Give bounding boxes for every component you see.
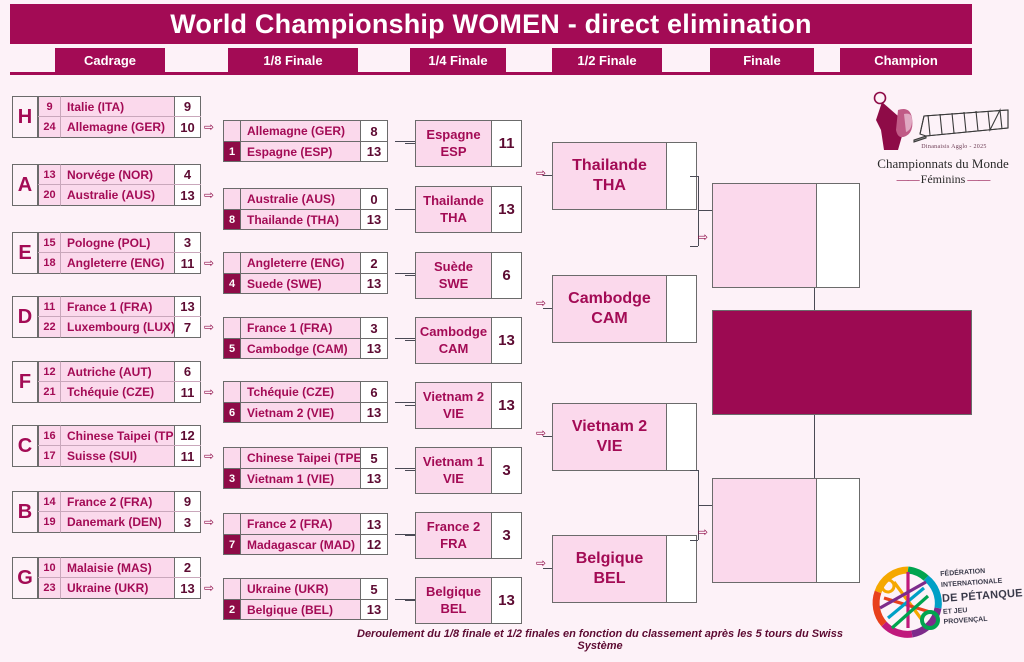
advance-arrow-icon: ⇨ (204, 189, 214, 201)
team-name: Vietnam 1 (VIE) (241, 468, 361, 489)
seed-number: 20 (38, 185, 61, 206)
team-name: Vietnam 2 (572, 417, 647, 437)
qualified-seed-badge: 5 (223, 338, 241, 359)
team-code: SWE (439, 276, 469, 292)
event-logo-caption-line1: Championnats du Monde (868, 156, 1018, 172)
semi-final-box[interactable]: CambodgeCAM (552, 275, 697, 343)
seed-number: 19 (38, 512, 61, 533)
team-name: Vietnam 2 (423, 389, 484, 405)
team-score: 13 (174, 578, 201, 599)
team-score: 13 (491, 187, 521, 232)
caption-dash-left: —— (897, 172, 921, 186)
team-name: Australie (AUS) (61, 185, 174, 206)
connector-line (405, 535, 415, 536)
team-code: THA (440, 210, 467, 226)
final-box-name (713, 184, 816, 287)
cadrage-group-letter: E (12, 232, 38, 274)
quarter-final-box-name: EspagneESP (416, 121, 491, 166)
cadrage-team-row[interactable]: 18Angleterre (ENG)11 (38, 253, 201, 274)
cadrage-team-row[interactable]: 16Chinese Taipei (TPE)12 (38, 425, 201, 446)
connector-line (405, 209, 415, 210)
qualified-seed-badge: 2 (223, 599, 241, 620)
eighth-final-team-row[interactable]: 5Cambodge (CAM)13 (223, 338, 388, 359)
connector-line (395, 141, 415, 142)
team-score: 13 (361, 402, 388, 423)
cadrage-team-row[interactable]: 13Norvége (NOR)4 (38, 164, 201, 185)
cadrage-match[interactable]: C16Chinese Taipei (TPE)1217Suisse (SUI)1… (12, 425, 201, 467)
team-name: Madagascar (MAD) (241, 534, 361, 555)
team-name: Ukraine (UKR) (61, 578, 174, 599)
team-score: 6 (491, 253, 521, 298)
seed-number: 21 (38, 382, 61, 403)
connector-line (814, 288, 815, 310)
team-score: 12 (361, 534, 388, 555)
team-score: 13 (361, 599, 388, 620)
connector-line (405, 405, 415, 406)
team-score: 5 (361, 447, 388, 468)
final-box[interactable] (712, 478, 860, 583)
cadrage-match[interactable]: F12Autriche (AUT)621Tchéquie (CZE)11 (12, 361, 201, 403)
semi-final-box-name: BelgiqueBEL (553, 536, 666, 602)
team-score: 13 (174, 185, 201, 206)
seed-badge-empty (223, 252, 241, 273)
page-title-text: World Championship WOMEN - direct elimin… (170, 9, 812, 40)
cadrage-team-row[interactable]: 15Pologne (POL)3 (38, 232, 201, 253)
advance-arrow-icon: ⇨ (536, 427, 546, 439)
cadrage-team-row[interactable]: 17Suisse (SUI)11 (38, 446, 201, 467)
round-tab-champion[interactable]: Champion (840, 48, 972, 72)
team-name: Suède (434, 259, 473, 275)
eighth-final-match[interactable]: France 2 (FRA)137Madagascar (MAD)12 (223, 513, 388, 555)
event-logo-caption-line2: —— Féminins —— (868, 172, 1018, 187)
eighth-final-team-row[interactable]: 8Thailande (THA)13 (223, 209, 388, 230)
eighth-final-team-row[interactable]: Angleterre (ENG)2 (223, 252, 388, 273)
team-score: 11 (174, 253, 201, 274)
team-name: France 1 (FRA) (241, 317, 361, 338)
round-tab-cadrage[interactable]: Cadrage (55, 48, 165, 72)
connector-line (395, 468, 415, 469)
quarter-final-box[interactable]: EspagneESP11 (415, 120, 522, 167)
quarter-final-box[interactable]: BelgiqueBEL13 (415, 577, 522, 624)
team-name: France 2 (FRA) (241, 513, 361, 534)
semi-final-box[interactable]: BelgiqueBEL (552, 535, 697, 603)
eighth-final-match[interactable]: France 1 (FRA)35Cambodge (CAM)13 (223, 317, 388, 359)
team-code: FRA (440, 536, 467, 552)
connector-line (543, 308, 552, 309)
team-score: 11 (491, 121, 521, 166)
team-score: 8 (361, 120, 388, 141)
team-name: Italie (ITA) (61, 96, 174, 116)
cadrage-group-letter: G (12, 557, 38, 599)
connector-line (405, 600, 415, 601)
semi-final-box-name: ThailandeTHA (553, 143, 666, 209)
cadrage-match[interactable]: G10Malaisie (MAS)223Ukraine (UKR)13 (12, 557, 201, 599)
team-score: 13 (361, 513, 388, 534)
team-score: 9 (174, 96, 201, 116)
team-score: 0 (361, 188, 388, 209)
team-score: 3 (361, 317, 388, 338)
connector-line (690, 246, 698, 247)
team-name: Tchéquie (CZE) (61, 382, 174, 403)
team-score: 2 (361, 252, 388, 273)
advance-arrow-icon: ⇨ (204, 121, 214, 133)
caption-dash-right: —— (965, 172, 989, 186)
team-score: 13 (361, 141, 388, 162)
quarter-final-box-name: Vietnam 1VIE (416, 448, 491, 493)
seed-number: 13 (38, 164, 61, 184)
team-score: 11 (174, 382, 201, 403)
eighth-final-team-row[interactable]: Allemagne (GER)8 (223, 120, 388, 141)
qualified-seed-badge: 3 (223, 468, 241, 489)
eighth-final-team-row[interactable]: 3Vietnam 1 (VIE)13 (223, 468, 388, 489)
team-code: CAM (439, 341, 469, 357)
header-divider (10, 72, 972, 75)
team-name: Espagne (ESP) (241, 141, 361, 162)
quarter-final-box-name: SuèdeSWE (416, 253, 491, 298)
team-name: Belgique (BEL) (241, 599, 361, 620)
champion-box[interactable] (712, 310, 972, 415)
team-name: Luxembourg (LUX) (61, 317, 174, 338)
cadrage-team-row[interactable]: 10Malaisie (MAS)2 (38, 557, 201, 578)
quarter-final-box[interactable]: Vietnam 1VIE3 (415, 447, 522, 494)
team-code: VIE (443, 471, 464, 487)
eighth-final-match[interactable]: Ukraine (UKR)52Belgique (BEL)13 (223, 578, 388, 620)
team-name: Cambodge (420, 324, 487, 340)
quarter-final-box[interactable]: CambodgeCAM13 (415, 317, 522, 364)
cadrage-team-row[interactable]: 22Luxembourg (LUX)7 (38, 317, 201, 338)
team-score: 10 (174, 117, 201, 138)
quarter-final-box[interactable]: France 2FRA3 (415, 512, 522, 559)
advance-arrow-icon: ⇨ (204, 321, 214, 333)
team-score: 2 (174, 557, 201, 577)
semi-final-box[interactable]: ThailandeTHA (552, 142, 697, 210)
team-name: Vietnam 2 (VIE) (241, 402, 361, 423)
round-tab-1-4-finale[interactable]: 1/4 Finale (410, 48, 506, 72)
team-code: BEL (594, 569, 626, 589)
seed-badge-empty (223, 578, 241, 599)
team-name: Angleterre (ENG) (241, 252, 361, 273)
team-name: Belgique (426, 584, 481, 600)
seed-badge-empty (223, 381, 241, 402)
cadrage-group-letter: B (12, 491, 38, 533)
team-name: Belgique (576, 549, 644, 569)
cadrage-group-letter: A (12, 164, 38, 206)
cadrage-match[interactable]: H9Italie (ITA)924Allemagne (GER)10 (12, 96, 201, 138)
round-tab-1-8-finale[interactable]: 1/8 Finale (228, 48, 358, 72)
connector-line (543, 436, 552, 437)
caption-text: Féminins (921, 172, 966, 186)
team-score: 13 (491, 318, 521, 363)
team-code: VIE (443, 406, 464, 422)
team-name: Norvége (NOR) (61, 164, 174, 184)
connector-line (698, 505, 712, 506)
qualified-seed-badge: 6 (223, 402, 241, 423)
connector-line (690, 176, 698, 177)
eighth-final-match[interactable]: Australie (AUS)08Thailande (THA)13 (223, 188, 388, 230)
eighth-final-team-row[interactable]: France 2 (FRA)13 (223, 513, 388, 534)
team-score: 3 (174, 232, 201, 252)
advance-arrow-icon: ⇨ (204, 450, 214, 462)
quarter-final-box-name: Vietnam 2VIE (416, 383, 491, 428)
advance-arrow-icon: ⇨ (536, 167, 546, 179)
team-name: Espagne (426, 127, 480, 143)
advance-arrow-icon: ⇨ (698, 231, 708, 243)
advance-arrow-icon: ⇨ (204, 257, 214, 269)
qualified-seed-badge: 4 (223, 273, 241, 294)
team-score: 12 (174, 425, 201, 445)
eighth-final-team-row[interactable]: 4Suede (SWE)13 (223, 273, 388, 294)
seed-badge-empty (223, 513, 241, 534)
advance-arrow-icon: ⇨ (204, 582, 214, 594)
team-name: Danemark (DEN) (61, 512, 174, 533)
team-score (666, 404, 696, 470)
team-score: 13 (361, 273, 388, 294)
team-name: Cambodge (CAM) (241, 338, 361, 359)
seed-number: 12 (38, 361, 61, 381)
team-score (816, 184, 859, 287)
connector-line (405, 470, 415, 471)
cadrage-team-row[interactable]: 12Autriche (AUT)6 (38, 361, 201, 382)
team-score: 11 (174, 446, 201, 467)
semi-final-box[interactable]: Vietnam 2VIE (552, 403, 697, 471)
seed-number: 14 (38, 491, 61, 511)
cadrage-group-letter: C (12, 425, 38, 467)
quarter-final-box-name: France 2FRA (416, 513, 491, 558)
connector-line (690, 470, 698, 471)
team-score (816, 479, 859, 582)
seed-number: 16 (38, 425, 61, 445)
round-tab-finale[interactable]: Finale (710, 48, 814, 72)
team-name: Suede (SWE) (241, 273, 361, 294)
team-score (666, 276, 696, 342)
event-logo-graphic (868, 90, 1018, 152)
team-code: VIE (597, 437, 623, 457)
team-score: 5 (361, 578, 388, 599)
eighth-final-team-row[interactable]: 7Madagascar (MAD)12 (223, 534, 388, 555)
team-score: 7 (174, 317, 201, 338)
footer-note: Deroulement du 1/8 finale et 1/2 finales… (340, 628, 860, 652)
quarter-final-box[interactable]: ThailandeTHA13 (415, 186, 522, 233)
team-name: Vietnam 1 (423, 454, 484, 470)
team-name: Allemagne (GER) (241, 120, 361, 141)
qualified-seed-badge: 7 (223, 534, 241, 555)
team-name: Thailande (THA) (241, 209, 361, 230)
connector-line (690, 540, 698, 541)
team-code: ESP (440, 144, 466, 160)
team-score: 13 (174, 296, 201, 316)
team-code: BEL (441, 601, 467, 617)
advance-arrow-icon: ⇨ (204, 516, 214, 528)
team-name: Thailande (423, 193, 484, 209)
eighth-final-team-row[interactable]: 2Belgique (BEL)13 (223, 599, 388, 620)
seed-number: 15 (38, 232, 61, 252)
quarter-final-box-name: ThailandeTHA (416, 187, 491, 232)
team-name: Allemagne (GER) (61, 117, 174, 138)
team-score: 4 (174, 164, 201, 184)
fipjp-logo: FÉDÉRATION INTERNATIONALE DE PÉTANQUE ET… (868, 556, 1022, 652)
semi-final-box-name: CambodgeCAM (553, 276, 666, 342)
team-code: CAM (591, 309, 627, 329)
team-name: Suisse (SUI) (61, 446, 174, 467)
seed-number: 23 (38, 578, 61, 599)
page-title: World Championship WOMEN - direct elimin… (10, 4, 972, 44)
cadrage-team-row[interactable]: 20Australie (AUS)13 (38, 185, 201, 206)
eighth-final-team-row[interactable]: 6Vietnam 2 (VIE)13 (223, 402, 388, 423)
eighth-final-match[interactable]: Tchéquie (CZE)66Vietnam 2 (VIE)13 (223, 381, 388, 423)
seed-number: 24 (38, 117, 61, 138)
seed-badge-empty (223, 317, 241, 338)
seed-badge-empty (223, 120, 241, 141)
cadrage-group-letter: F (12, 361, 38, 403)
quarter-final-box[interactable]: Vietnam 2VIE13 (415, 382, 522, 429)
team-score (666, 536, 696, 602)
cadrage-team-row[interactable]: 23Ukraine (UKR)13 (38, 578, 201, 599)
eighth-final-team-row[interactable]: Tchéquie (CZE)6 (223, 381, 388, 402)
seed-badge-empty (223, 447, 241, 468)
connector-line (395, 338, 415, 339)
final-box-name (713, 479, 816, 582)
connector-line (814, 415, 815, 478)
eighth-final-team-row[interactable]: France 1 (FRA)3 (223, 317, 388, 338)
quarter-final-box-name: CambodgeCAM (416, 318, 491, 363)
team-name: Pologne (POL) (61, 232, 174, 252)
team-name: Chinese Taipei (TPE) (61, 425, 174, 445)
connector-line (405, 143, 415, 144)
connector-line (405, 275, 415, 276)
seed-number: 18 (38, 253, 61, 274)
team-code: THA (593, 176, 626, 196)
team-score: 9 (174, 491, 201, 511)
eighth-final-team-row[interactable]: Australie (AUS)0 (223, 188, 388, 209)
bracket-canvas: World Championship WOMEN - direct elimin… (0, 0, 1024, 662)
cadrage-team-row[interactable]: 11France 1 (FRA)13 (38, 296, 201, 317)
team-name: Malaisie (MAS) (61, 557, 174, 577)
team-name: Cambodge (568, 289, 651, 309)
team-score: 3 (174, 512, 201, 533)
cadrage-match[interactable]: B14France 2 (FRA)919Danemark (DEN)3 (12, 491, 201, 533)
event-logo: Dinanaisis Agglo - 2025 Championnats du … (862, 86, 1022, 206)
team-score: 13 (361, 338, 388, 359)
advance-arrow-icon: ⇨ (698, 526, 708, 538)
eighth-final-match[interactable]: Angleterre (ENG)24Suede (SWE)13 (223, 252, 388, 294)
cadrage-team-row[interactable]: 24Allemagne (GER)10 (38, 117, 201, 138)
cadrage-match[interactable]: D11France 1 (FRA)1322Luxembourg (LUX)7 (12, 296, 201, 338)
eighth-final-team-row[interactable]: Ukraine (UKR)5 (223, 578, 388, 599)
connector-line (543, 568, 552, 569)
team-score: 13 (361, 209, 388, 230)
cadrage-team-row[interactable]: 21Tchéquie (CZE)11 (38, 382, 201, 403)
connector-line (405, 340, 415, 341)
team-score: 3 (491, 513, 521, 558)
team-name: Australie (AUS) (241, 188, 361, 209)
advance-arrow-icon: ⇨ (204, 386, 214, 398)
connector-line (543, 175, 552, 176)
seed-number: 9 (38, 96, 61, 116)
final-box[interactable] (712, 183, 860, 288)
team-score: 13 (491, 383, 521, 428)
seed-number: 10 (38, 557, 61, 577)
event-logo-subcaption: Dinanaisis Agglo - 2025 (890, 144, 1018, 150)
cadrage-team-row[interactable]: 19Danemark (DEN)3 (38, 512, 201, 533)
team-name: France 1 (FRA) (61, 296, 174, 316)
semi-final-box-name: Vietnam 2VIE (553, 404, 666, 470)
eighth-final-match[interactable]: Allemagne (GER)81Espagne (ESP)13 (223, 120, 388, 162)
cadrage-group-letter: D (12, 296, 38, 338)
team-name: Angleterre (ENG) (61, 253, 174, 274)
cadrage-match[interactable]: A13Norvége (NOR)420Australie (AUS)13 (12, 164, 201, 206)
cadrage-match[interactable]: E15Pologne (POL)318Angleterre (ENG)11 (12, 232, 201, 274)
cadrage-group-letter: H (12, 96, 38, 138)
connector-line (395, 273, 415, 274)
eighth-final-team-row[interactable]: Chinese Taipei (TPE)5 (223, 447, 388, 468)
fipjp-logo-text: FÉDÉRATION INTERNATIONALE DE PÉTANQUE ET… (940, 564, 1024, 628)
eighth-final-team-row[interactable]: 1Espagne (ESP)13 (223, 141, 388, 162)
seed-badge-empty (223, 188, 241, 209)
team-name: Ukraine (UKR) (241, 578, 361, 599)
connector-line (395, 402, 415, 403)
team-score: 3 (491, 448, 521, 493)
cadrage-team-row[interactable]: 14France 2 (FRA)9 (38, 491, 201, 512)
quarter-final-box[interactable]: SuèdeSWE6 (415, 252, 522, 299)
team-name: Thailande (572, 156, 647, 176)
qualified-seed-badge: 1 (223, 141, 241, 162)
fipjp-logo-graphic (868, 562, 948, 642)
seed-number: 11 (38, 296, 61, 316)
team-score: 13 (491, 578, 521, 623)
cadrage-team-row[interactable]: 9Italie (ITA)9 (38, 96, 201, 117)
team-name: France 2 (FRA) (61, 491, 174, 511)
round-tab-1-2-finale[interactable]: 1/2 Finale (552, 48, 662, 72)
team-score: 6 (361, 381, 388, 402)
qualified-seed-badge: 8 (223, 209, 241, 230)
connector-line (698, 210, 712, 211)
team-name: France 2 (427, 519, 480, 535)
team-name: Chinese Taipei (TPE) (241, 447, 361, 468)
team-name: Autriche (AUT) (61, 361, 174, 381)
team-score: 13 (361, 468, 388, 489)
seed-number: 22 (38, 317, 61, 338)
seed-number: 17 (38, 446, 61, 467)
team-score: 6 (174, 361, 201, 381)
quarter-final-box-name: BelgiqueBEL (416, 578, 491, 623)
eighth-final-match[interactable]: Chinese Taipei (TPE)53Vietnam 1 (VIE)13 (223, 447, 388, 489)
team-name: Tchéquie (CZE) (241, 381, 361, 402)
